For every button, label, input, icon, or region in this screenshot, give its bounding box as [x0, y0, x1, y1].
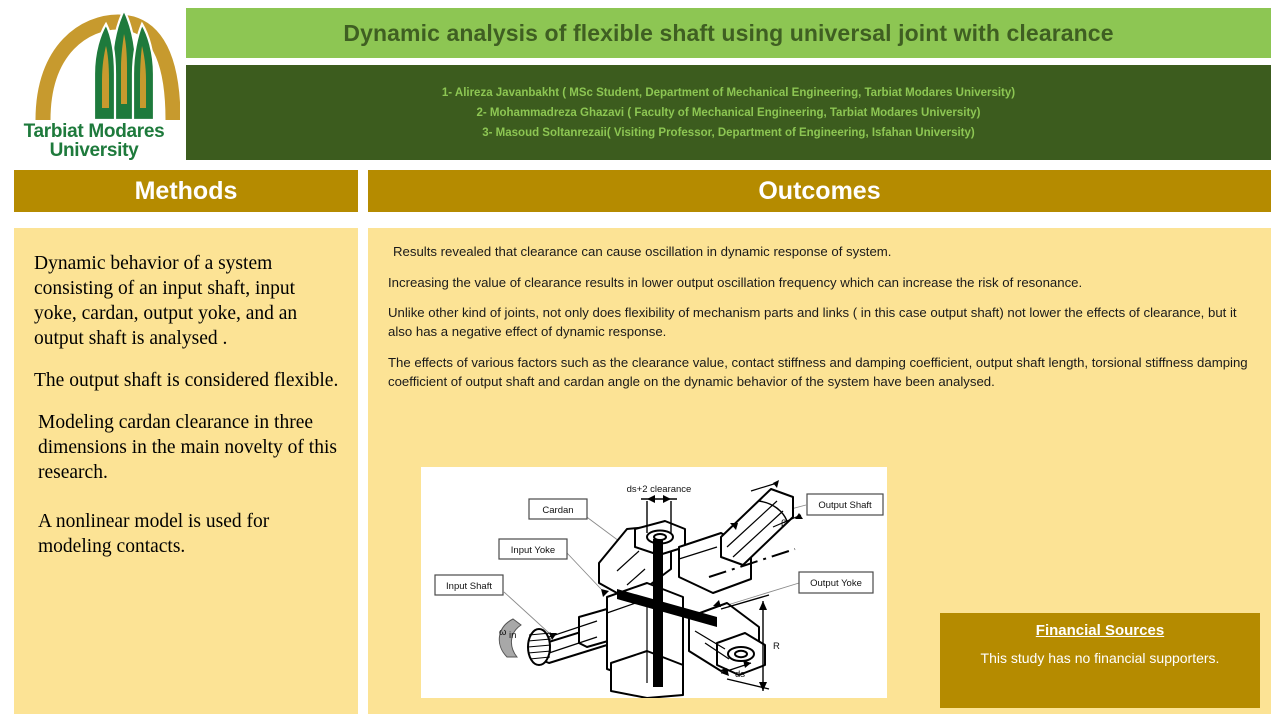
university-logo: Tarbiat Modares University [8, 4, 180, 162]
logo-text-line2: University [8, 141, 180, 160]
label-cardan-text: Cardan [542, 505, 573, 516]
methods-paragraph-2: The output shaft is considered flexible. [34, 369, 340, 394]
page-title: Dynamic analysis of flexible shaft using… [343, 20, 1113, 47]
outcomes-body: Results revealed that clearance can caus… [368, 228, 1271, 391]
label-input-yoke-text: Input Yoke [511, 545, 555, 556]
logo-mark [8, 4, 180, 122]
methods-body: Dynamic behavior of a system consisting … [14, 228, 358, 560]
author-line-2: 2- Mohammadreza Ghazavi ( Faculty of Mec… [477, 107, 981, 119]
methods-section-header: Methods [14, 170, 358, 212]
methods-paragraph-1: Dynamic behavior of a system consisting … [34, 252, 340, 352]
outcome-paragraph-1: Results revealed that clearance can caus… [388, 243, 1249, 262]
outcome-paragraph-3: Unlike other kind of joints, not only do… [388, 304, 1249, 341]
diagram-label-output-shaft: Output Shaft [807, 494, 883, 515]
financial-sources-title: Financial Sources [940, 622, 1260, 639]
methods-paragraph-3: Modeling cardan clearance in three dimen… [34, 411, 340, 486]
diagram-label-input-yoke: Input Yoke [499, 539, 567, 559]
author-line-3: 3- Masoud Soltanrezaii( Visiting Profess… [482, 127, 974, 139]
label-omega-subscript: in [509, 630, 516, 641]
poster-title-bar: Dynamic analysis of flexible shaft using… [186, 8, 1271, 58]
diagram-label-cardan: Cardan [529, 499, 587, 519]
outcome-paragraph-2: Increasing the value of clearance result… [388, 274, 1249, 293]
universal-joint-diagram: Cardan Input Yoke Input Shaft Output Sha… [421, 467, 887, 698]
diagram-label-output-yoke: Output Yoke [799, 572, 873, 593]
methods-paragraph-4: A nonlinear model is used for modeling c… [34, 510, 340, 560]
outcomes-header-label: Outcomes [758, 177, 880, 206]
methods-panel: Dynamic behavior of a system consisting … [14, 228, 358, 714]
universal-joint-drawing: Cardan Input Yoke Input Shaft Output Sha… [421, 467, 887, 698]
financial-sources-box: Financial Sources This study has no fina… [940, 613, 1260, 708]
methods-header-label: Methods [135, 177, 238, 206]
label-input-shaft-text: Input Shaft [446, 581, 492, 592]
authors-bar: 1- Alireza Javanbakht ( MSc Student, Dep… [186, 65, 1271, 160]
author-line-1: 1- Alireza Javanbakht ( MSc Student, Dep… [442, 87, 1015, 99]
outcome-paragraph-4: The effects of various factors such as t… [388, 354, 1249, 391]
label-omega-symbol: ω [499, 627, 507, 638]
label-shaft-diameter-ds: ds [735, 669, 745, 680]
financial-sources-text: This study has no financial supporters. [940, 650, 1260, 666]
logo-text-line1: Tarbiat Modares [8, 122, 180, 141]
label-output-yoke-text: Output Yoke [810, 578, 862, 589]
diagram-label-input-shaft: Input Shaft [435, 575, 503, 595]
label-beta-angle: β [781, 518, 787, 529]
outcomes-section-header: Outcomes [368, 170, 1271, 212]
label-clearance-dimension: ds+2 clearance [627, 484, 692, 495]
label-radius-R: R [773, 641, 780, 652]
label-output-shaft-text: Output Shaft [818, 500, 872, 511]
